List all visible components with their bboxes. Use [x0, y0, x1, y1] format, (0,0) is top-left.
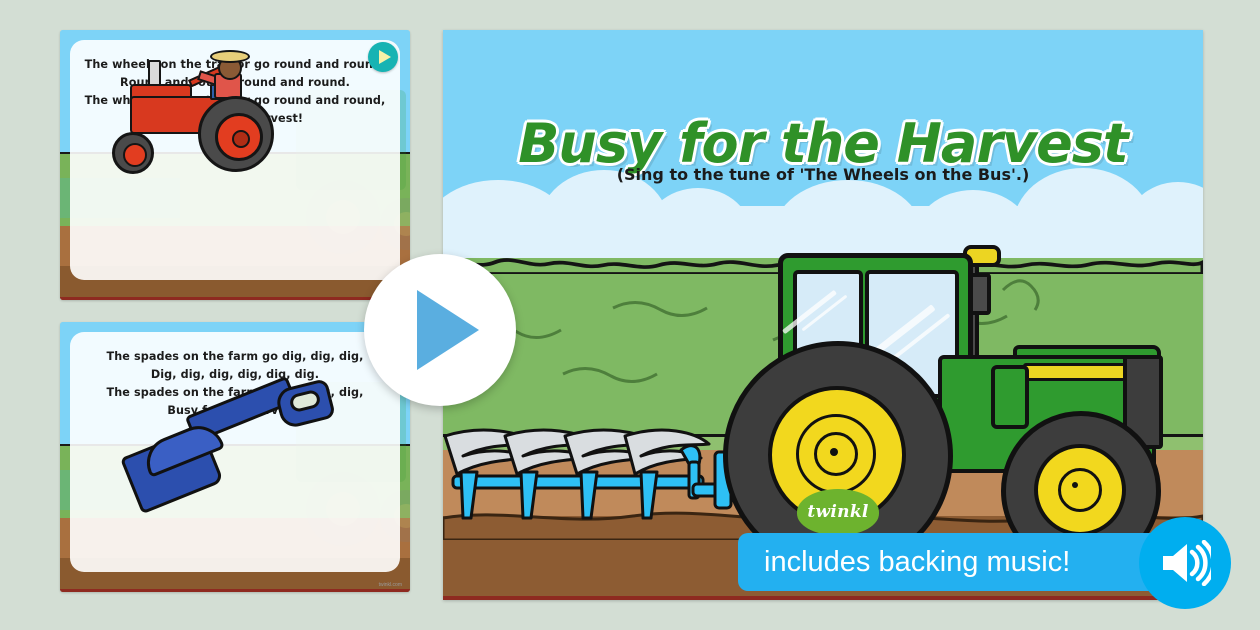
slide-bottom-edge — [60, 297, 410, 300]
rear-hub-center — [830, 448, 838, 456]
hood-stripe — [1023, 363, 1139, 381]
rear-wheel-hub — [232, 130, 250, 148]
lyric-line: The spades on the farm go dig, dig, dig, — [84, 348, 386, 366]
speaker-volume-icon — [1159, 540, 1211, 586]
credit-text: twinkl.com — [379, 582, 402, 588]
slide-bottom-edge — [443, 596, 1203, 600]
straw-hat-icon — [210, 50, 250, 63]
play-triangle-icon — [417, 290, 479, 370]
page-stage: The wheels on the tractor go round and r… — [0, 0, 1260, 630]
rear-wheel-rim — [215, 113, 263, 161]
subtitle: (Sing to the tune of 'The Wheels on the … — [443, 165, 1203, 184]
blue-spade-illustration — [128, 384, 338, 504]
lyrics-panel: The wheels on the tractor go round and r… — [70, 40, 400, 280]
front-wheel-rim — [1034, 444, 1126, 536]
play-button[interactable] — [364, 254, 516, 406]
front-hub-center — [1072, 482, 1078, 488]
twinkl-logo: twinkl — [800, 492, 876, 532]
slide-thumbnail-wheels[interactable]: The wheels on the tractor go round and r… — [60, 30, 410, 300]
slide-bottom-edge — [60, 589, 410, 592]
main-slide-preview[interactable]: Busy for the Harvest (Sing to the tune o… — [443, 30, 1203, 600]
twinkl-logo-text: twinkl — [807, 502, 868, 522]
tractor-rear-wheel — [198, 96, 274, 172]
front-wheel-rim — [123, 143, 147, 167]
tractor-front-wheel — [112, 132, 154, 174]
speaker-button[interactable] — [1139, 517, 1231, 609]
plough-attachment — [443, 422, 743, 532]
thumbnail-play-button[interactable] — [368, 42, 398, 72]
backing-music-label: includes backing music! — [738, 546, 1070, 579]
front-hub-ring — [1058, 468, 1102, 512]
lyric-line: Dig, dig, dig, dig, dig, dig. — [84, 366, 386, 384]
front-fender — [991, 365, 1029, 429]
play-triangle-icon — [379, 50, 391, 64]
backing-music-banner: includes backing music! — [738, 533, 1168, 591]
slide-thumbnail-spades[interactable]: The spades on the farm go dig, dig, dig,… — [60, 322, 410, 592]
plough-illustration — [443, 422, 743, 532]
lyrics-panel: The spades on the farm go dig, dig, dig,… — [70, 332, 400, 572]
